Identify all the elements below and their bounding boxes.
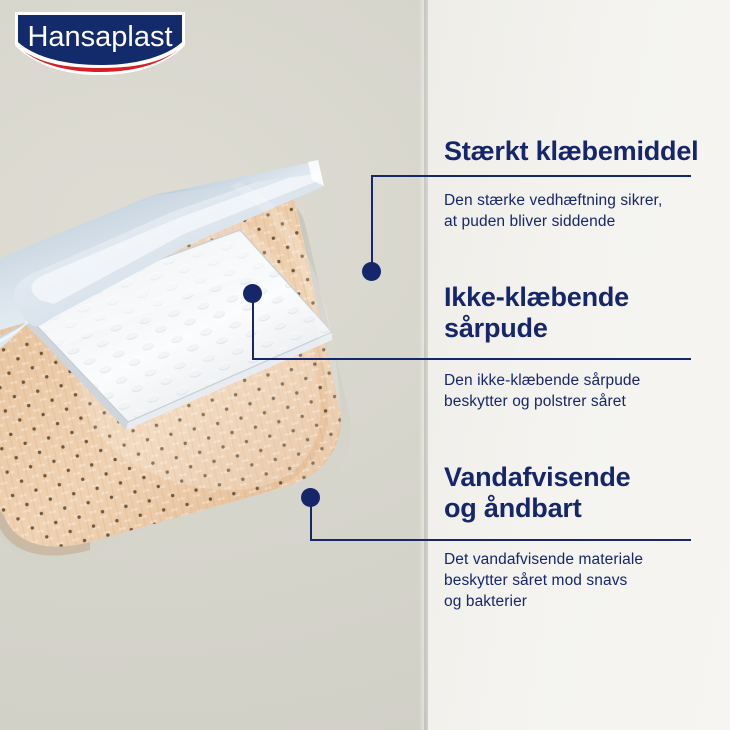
callout-2-title-line1: Ikke-klæbende [444, 282, 629, 312]
callout-2-body: Den ikke-klæbende sårpude beskytter og p… [444, 370, 714, 412]
infographic-canvas: Hansaplast [0, 0, 730, 730]
callout-1-title-line1: Stærkt klæbemiddel [444, 136, 698, 166]
callout-1-body-line2: at puden bliver siddende [444, 213, 615, 230]
callout-1-body: Den stærke vedhæftning sikrer, at puden … [444, 190, 714, 232]
callout-3-title: Vandafvisende og åndbart [444, 462, 704, 524]
callout-3-body-line2: beskytter såret mod snavs [444, 572, 627, 589]
hansaplast-logo: Hansaplast [12, 9, 188, 79]
callout-3-body-line1: Det vandafvisende materiale [444, 551, 643, 568]
callout-1-body-line1: Den stærke vedhæftning sikrer, [444, 192, 662, 209]
callout-2-title: Ikke-klæbende sårpude [444, 282, 704, 344]
callout-3-body-line3: og bakterier [444, 593, 527, 610]
logo-wordmark: Hansaplast [27, 21, 172, 53]
callout-1-rule [371, 175, 691, 177]
callout-3-title-line1: Vandafvisende [444, 462, 630, 492]
callout-3-body: Det vandafvisende materiale beskytter så… [444, 549, 714, 612]
callout-2-leader-vertical [252, 295, 254, 359]
callout-2-body-line1: Den ikke-klæbende sårpude [444, 372, 640, 389]
callout-3: Vandafvisende og åndbart [444, 462, 704, 524]
product-illustration [0, 150, 500, 570]
callout-1-title: Stærkt klæbemiddel [444, 136, 704, 167]
callout-3-title-line2: og åndbart [444, 493, 582, 523]
callout-2: Ikke-klæbende sårpude [444, 282, 704, 344]
callout-2-rule [252, 358, 691, 360]
callout-1: Stærkt klæbemiddel [444, 136, 704, 167]
callout-2-body-line2: beskytter og polstrer såret [444, 393, 626, 410]
callout-3-leader-vertical [310, 499, 312, 540]
callout-1-leader-vertical [371, 175, 373, 273]
callout-2-title-line2: sårpude [444, 313, 548, 343]
callout-3-rule [310, 539, 691, 541]
